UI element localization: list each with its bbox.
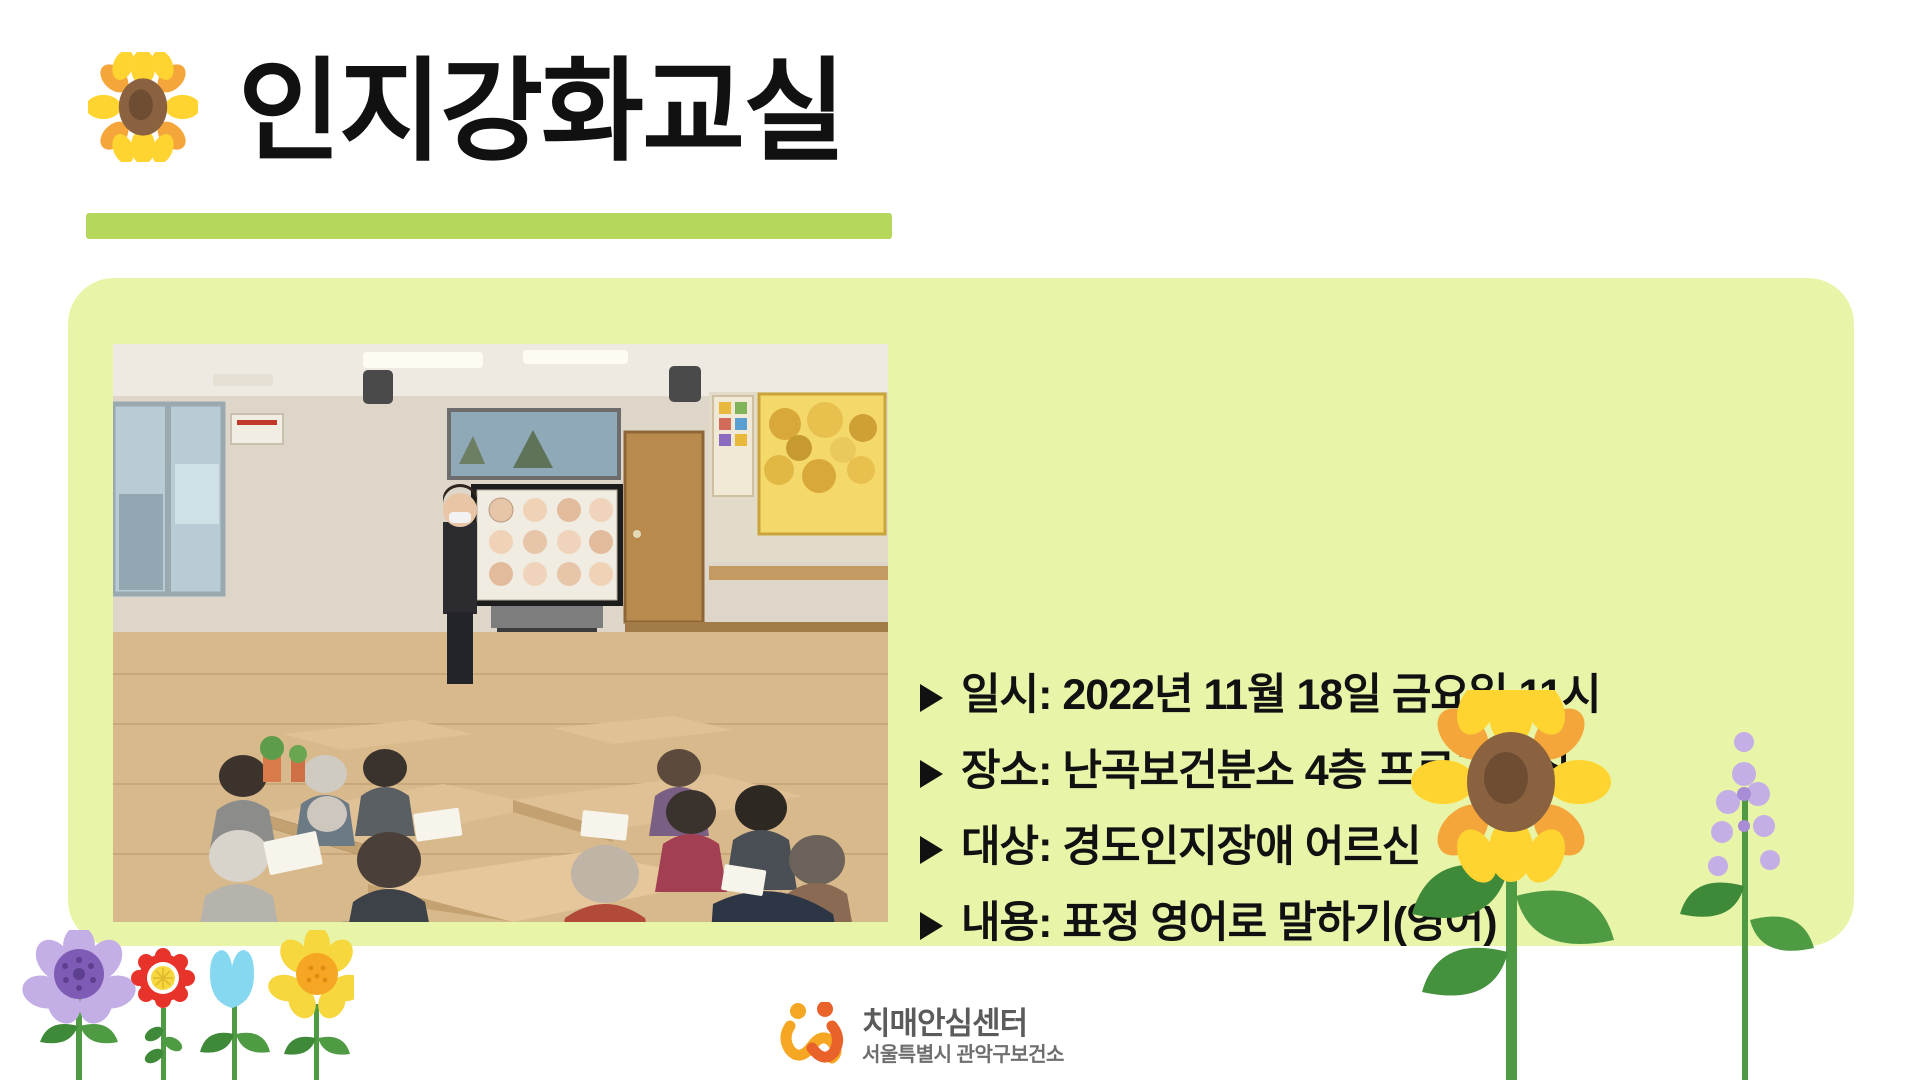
red-flower-icon [131, 948, 195, 1080]
bullet-triangle-icon [920, 836, 943, 864]
logo-sub-text: 서울특별시 관악구보건소 [862, 1038, 1064, 1067]
footer-logo: 치매안심센터 서울특별시 관악구보건소 [780, 998, 1080, 1070]
blue-tulip-icon [200, 950, 270, 1080]
sunflower-icon [88, 52, 198, 162]
bullet-triangle-icon [920, 760, 943, 788]
program-photo [113, 344, 888, 922]
photo-illustration [113, 344, 888, 922]
purple-flower-icon [19, 930, 140, 1080]
page-title: 인지강화교실 [238, 42, 844, 182]
bullet-triangle-icon [920, 912, 943, 940]
yellow-flower-icon [266, 930, 354, 1080]
bullet-triangle-icon [920, 684, 943, 712]
poster-root: 인지강화교실 [0, 0, 1920, 1080]
logo-main-text: 치매안심센터 [862, 998, 1027, 1043]
decor-flowers-right [1330, 690, 1920, 1080]
sunflower-icon [1411, 690, 1614, 1080]
people-ribbon-logo-icon [780, 1002, 850, 1064]
purple-sprig-icon [1680, 732, 1814, 1080]
decor-flowers-left [14, 930, 354, 1080]
poster-header: 인지강화교실 [0, 0, 1920, 230]
title-underline-rule [86, 213, 892, 239]
